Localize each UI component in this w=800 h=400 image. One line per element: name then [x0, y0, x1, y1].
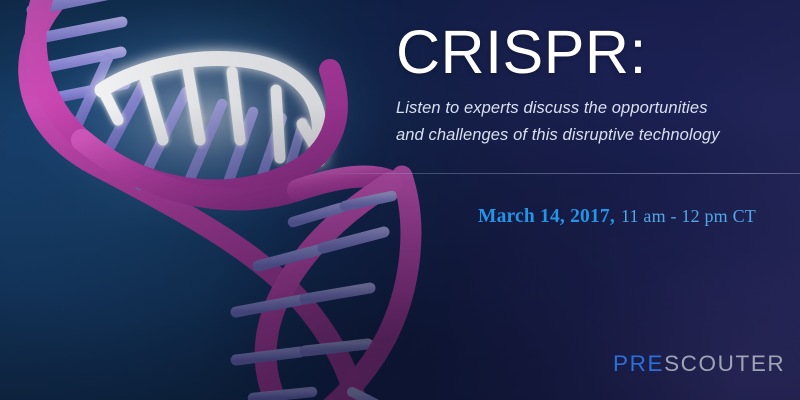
- event-time: 11 am - 12 pm CT: [621, 206, 756, 226]
- subtitle-line-1: Listen to experts discuss the opportunit…: [396, 95, 786, 122]
- subtitle: Listen to experts discuss the opportunit…: [396, 95, 786, 148]
- event-date: March 14, 2017,: [478, 206, 615, 227]
- page-title: CRISPR:: [396, 22, 647, 83]
- logo-text-pre: PRE: [613, 351, 664, 376]
- event-datetime: March 14, 2017,11 am - 12 pm CT: [478, 206, 756, 228]
- horizontal-divider: [320, 173, 800, 174]
- logo-text-scouter: SCOUTER: [664, 351, 785, 376]
- prescouter-logo[interactable]: PRESCOUTER: [613, 351, 785, 377]
- subtitle-line-2: and challenges of this disruptive techno…: [396, 122, 786, 149]
- crispr-webinar-banner: CRISPR: Listen to experts discuss the op…: [0, 0, 800, 400]
